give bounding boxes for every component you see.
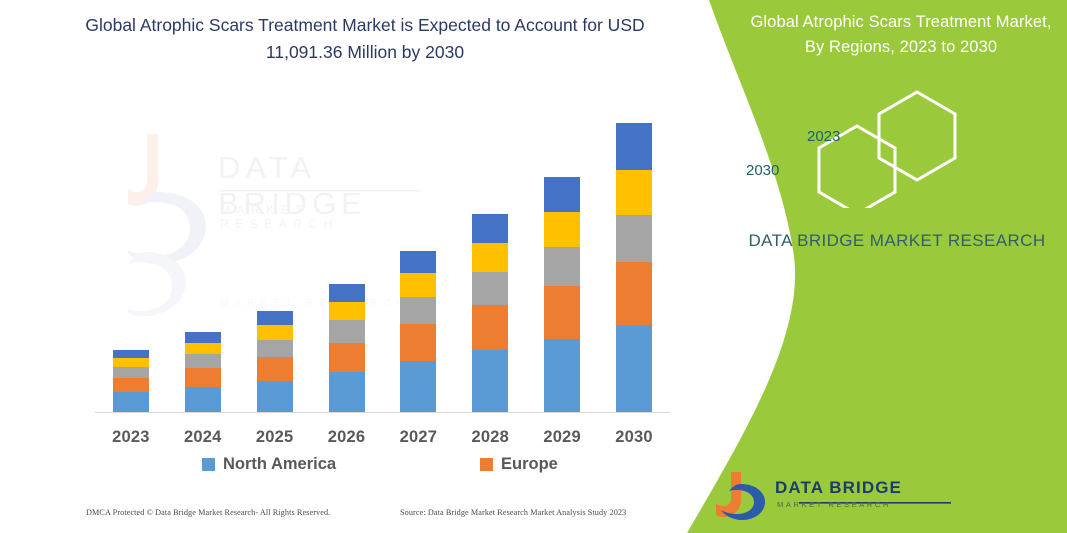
bar-column — [400, 251, 436, 413]
footer: DMCA Protected © Data Bridge Market Rese… — [0, 505, 712, 529]
panel-content: Global Atrophic Scars Treatment Market, … — [687, 0, 1067, 533]
bar-segment — [185, 354, 221, 368]
bar-segment — [472, 305, 508, 350]
hex-badge-label-2023: 2023 — [807, 128, 840, 145]
footer-source: Source: Data Bridge Market Research Mark… — [400, 508, 626, 517]
bar-segment — [616, 170, 652, 215]
x-axis-label: 2023 — [95, 428, 167, 447]
legend-item[interactable]: North America — [202, 455, 336, 474]
bar-segment — [544, 212, 580, 247]
bar-segment — [257, 381, 293, 413]
x-axis-label: 2024 — [167, 428, 239, 447]
logo-name: DATA BRIDGE — [775, 478, 902, 498]
bar-segment — [616, 325, 652, 413]
bar-segment — [113, 367, 149, 378]
panel-brand-text: DATA BRIDGE MARKET RESEARCH — [747, 228, 1047, 254]
x-axis-label: 2027 — [382, 428, 454, 447]
legend-label: Europe — [501, 455, 558, 474]
bar-segment — [616, 123, 652, 171]
bar-segment — [616, 215, 652, 262]
bar-segment — [472, 243, 508, 272]
bar-segment — [544, 247, 580, 286]
bar-column — [616, 123, 652, 413]
bar-column — [329, 284, 365, 413]
bar-segment — [400, 297, 436, 324]
legend-item[interactable]: Europe — [480, 455, 558, 474]
hexagon-badges-group — [807, 88, 1007, 208]
bar-segment — [113, 378, 149, 393]
bar-segment — [257, 357, 293, 380]
x-axis-labels: 20232024202520262027202820292030 — [95, 428, 670, 454]
bar-segment — [400, 251, 436, 273]
bar-column — [113, 350, 149, 413]
chart-legend: North AmericaEurope — [95, 455, 670, 481]
bar-segment — [185, 368, 221, 387]
bar-segment — [329, 320, 365, 342]
logo-tagline: MARKET RESEARCH — [777, 500, 891, 509]
bar-segment — [616, 262, 652, 325]
bar-segment — [472, 272, 508, 305]
bar-segment — [472, 214, 508, 242]
footer-copyright: DMCA Protected © Data Bridge Market Rese… — [86, 508, 330, 517]
infographic-canvas: Global Atrophic Scars Treatment Market, … — [0, 0, 1067, 533]
bar-segment — [400, 324, 436, 361]
bar-segment — [329, 372, 365, 413]
x-axis-label: 2026 — [311, 428, 383, 447]
hex-badge-label-2030: 2030 — [746, 162, 779, 179]
bar-segment — [257, 325, 293, 340]
panel-title: Global Atrophic Scars Treatment Market, … — [745, 10, 1057, 60]
bar-column — [544, 177, 580, 413]
bar-column — [472, 214, 508, 413]
right-green-panel: Global Atrophic Scars Treatment Market, … — [687, 0, 1067, 533]
legend-swatch-icon — [202, 458, 215, 471]
chart-title: Global Atrophic Scars Treatment Market i… — [70, 12, 660, 66]
bar-segment — [544, 286, 580, 339]
x-axis-label: 2028 — [454, 428, 526, 447]
bar-column — [185, 332, 221, 413]
bar-segment — [113, 392, 149, 413]
bar-segment — [544, 177, 580, 211]
x-axis-label: 2025 — [239, 428, 311, 447]
bar-segment — [185, 332, 221, 343]
bar-segment — [329, 302, 365, 321]
bar-segment — [400, 273, 436, 296]
bar-segment — [185, 343, 221, 355]
bar-segment — [400, 361, 436, 413]
legend-label: North America — [223, 455, 336, 474]
x-axis-label: 2029 — [526, 428, 598, 447]
legend-swatch-icon — [480, 458, 493, 471]
bar-column — [257, 311, 293, 413]
bar-segment — [472, 350, 508, 413]
bar-segment — [329, 284, 365, 302]
hexagon-outline-icon — [879, 92, 955, 180]
bar-segment — [257, 311, 293, 325]
bar-segment — [113, 350, 149, 358]
bar-segment — [185, 387, 221, 413]
bar-segment — [257, 340, 293, 358]
bar-segment — [329, 343, 365, 372]
bar-segment — [544, 339, 580, 413]
x-axis-label: 2030 — [598, 428, 670, 447]
x-axis-line — [95, 412, 670, 413]
chart-area: Global Atrophic Scars Treatment Market i… — [0, 0, 712, 533]
stacked-bar-plot — [95, 100, 670, 413]
bar-segment — [113, 358, 149, 367]
